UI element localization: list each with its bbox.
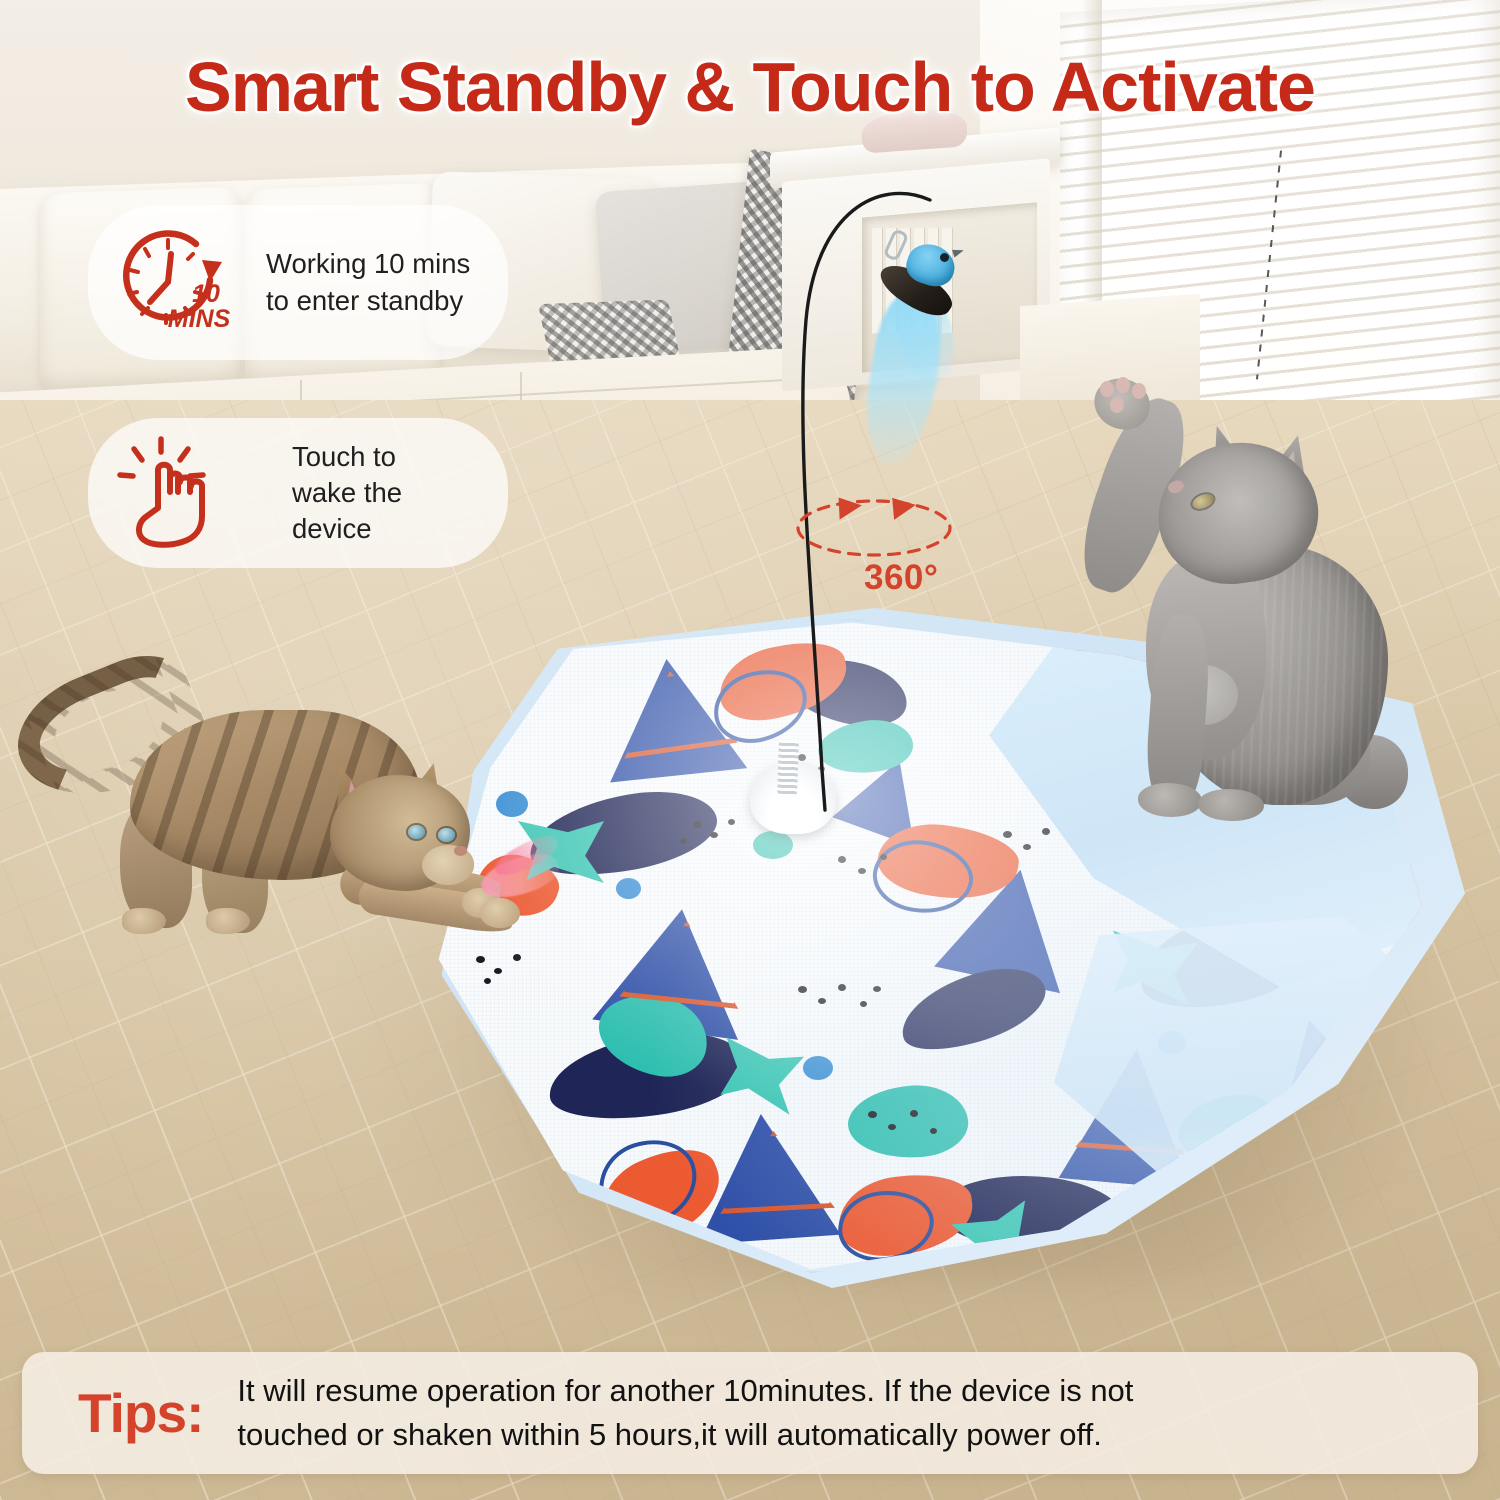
svg-text:MINS: MINS xyxy=(168,305,231,333)
page-title: Smart Standby & Touch to Activate xyxy=(0,52,1500,122)
tabby-hind-paw xyxy=(206,908,250,934)
tabby-eye xyxy=(408,825,425,839)
tabby-nose xyxy=(454,846,467,856)
tips-panel: Tips: It will resume operation for anoth… xyxy=(22,1352,1478,1474)
rotation-360-annotation: 360° xyxy=(782,492,982,607)
grey-paw-toe xyxy=(1110,397,1124,413)
clock-10-mins-icon: 10 MINS xyxy=(114,224,244,342)
grey-paw-toe xyxy=(1116,377,1130,393)
tips-text: It will resume operation for another 10m… xyxy=(237,1369,1452,1457)
grey-paw-toe xyxy=(1100,381,1114,397)
bird-eye xyxy=(940,253,949,262)
tabby-kitten xyxy=(10,640,550,940)
rotation-360-label: 360° xyxy=(864,558,938,598)
svg-text:10: 10 xyxy=(192,280,220,308)
grey-kitten xyxy=(1050,365,1450,835)
product-infographic: 360° Smart Standby & Touch to Activate xyxy=(0,0,1500,1500)
tips-label: Tips: xyxy=(78,1386,203,1441)
feature-badge-touch: Touch to wake the device xyxy=(88,418,508,568)
feature-badge-touch-text: Touch to wake the device xyxy=(266,439,474,548)
grey-front-paw xyxy=(1138,783,1202,817)
tabby-front-paw xyxy=(480,898,520,928)
touch-hand-icon xyxy=(114,434,244,552)
tabby-hind-paw xyxy=(122,908,166,934)
grey-paw-toe xyxy=(1132,383,1146,399)
tabby-eye xyxy=(438,828,455,842)
feature-badge-standby: 10 MINS Working 10 mins to enter standby xyxy=(88,205,508,360)
feature-badge-standby-text: Working 10 mins to enter standby xyxy=(266,246,470,319)
grey-front-paw xyxy=(1198,789,1264,821)
